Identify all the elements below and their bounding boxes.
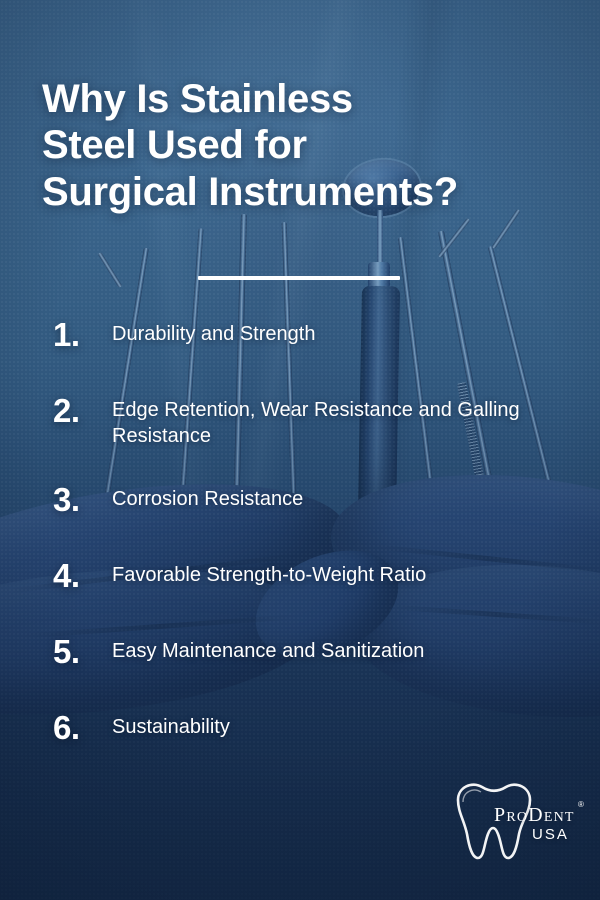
logo-wordmark: ProDent <box>494 804 575 827</box>
list-item-label: Corrosion Resistance <box>112 483 303 513</box>
list-item-label: Edge Retention, Wear Resistance and Gall… <box>112 394 600 449</box>
brand-logo: ProDent ® USA <box>446 778 586 870</box>
list-item-number: 1. <box>53 318 112 351</box>
list-item-number: 4. <box>53 559 112 592</box>
poster-content: Why Is Stainless Steel Used for Surgical… <box>0 0 600 900</box>
list-item-number: 5. <box>53 635 112 668</box>
logo-subtext: USA <box>532 826 569 843</box>
list-item: 6. Sustainability <box>0 711 600 753</box>
registered-trademark-icon: ® <box>578 800 584 809</box>
list-item: 5. Easy Maintenance and Sanitization <box>0 635 600 677</box>
page-title: Why Is Stainless Steel Used for Surgical… <box>42 76 574 215</box>
list-item-number: 2. <box>53 394 112 427</box>
list-item: 2. Edge Retention, Wear Resistance and G… <box>0 394 600 449</box>
title-line-2: Steel Used for <box>42 123 307 167</box>
title-divider <box>198 276 400 280</box>
reasons-list: 1. Durability and Strength 2. Edge Reten… <box>0 318 600 787</box>
title-line-1: Why Is Stainless <box>42 77 353 121</box>
list-item-label: Sustainability <box>112 711 230 741</box>
list-item-label: Durability and Strength <box>112 318 315 348</box>
list-item: 4. Favorable Strength-to-Weight Ratio <box>0 559 600 601</box>
list-item-number: 3. <box>53 483 112 516</box>
list-item: 3. Corrosion Resistance <box>0 483 600 525</box>
title-line-3: Surgical Instruments? <box>42 170 458 214</box>
list-item: 1. Durability and Strength <box>0 318 600 360</box>
list-item-label: Favorable Strength-to-Weight Ratio <box>112 559 426 589</box>
infographic-poster: Why Is Stainless Steel Used for Surgical… <box>0 0 600 900</box>
list-item-number: 6. <box>53 711 112 744</box>
list-item-label: Easy Maintenance and Sanitization <box>112 635 424 665</box>
